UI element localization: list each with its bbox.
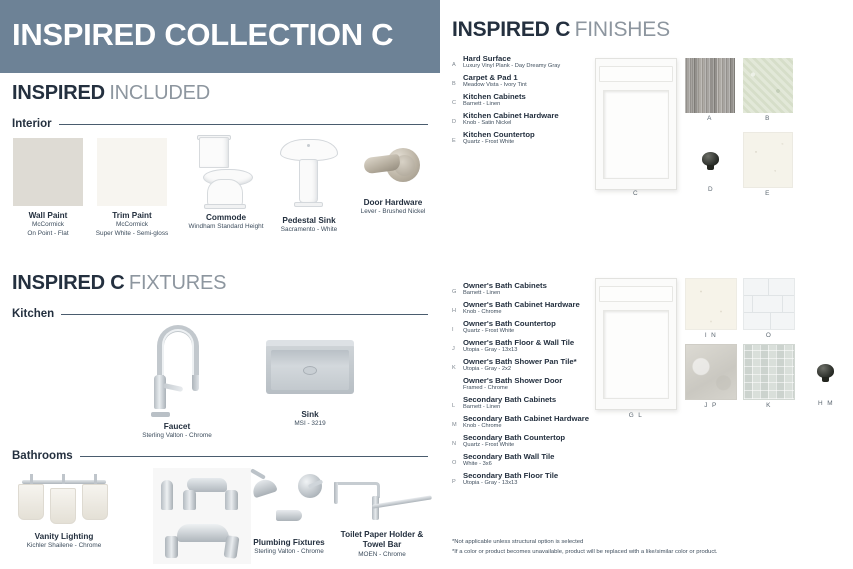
item-plumbing-fixtures: Plumbing Fixtures Sterling Valton - Chro… bbox=[243, 470, 335, 557]
swatch-label-jp: J P bbox=[685, 402, 737, 409]
swatch-carpet bbox=[743, 58, 793, 113]
interior-subheading: Interior bbox=[12, 118, 428, 130]
page-title: INSPIRED COLLECTION C bbox=[12, 17, 393, 53]
item-brand: McCormick bbox=[12, 221, 84, 229]
kitchen-sink-illustration bbox=[266, 340, 354, 402]
swatch-cabinet-door-kitchen bbox=[595, 58, 677, 190]
finish-name: Secondary Bath Countertop bbox=[463, 433, 632, 442]
vanity-light-illustration bbox=[14, 470, 114, 528]
swatch-knob-bath bbox=[817, 364, 834, 378]
swatch-label-a: A bbox=[685, 115, 735, 122]
finish-row: P Secondary Bath Floor Tile Utopia - Gra… bbox=[452, 470, 632, 489]
swatch-label-k: K bbox=[743, 402, 795, 409]
finish-key bbox=[452, 383, 463, 387]
item-name: Commode bbox=[178, 213, 274, 223]
finishes-heading: INSPIRED C FINISHES bbox=[452, 18, 670, 42]
swatch-label-b: B bbox=[743, 115, 793, 122]
pedestal-sink-illustration bbox=[278, 137, 340, 207]
item-spec: Kichler Shailene - Chrome bbox=[14, 542, 114, 550]
collection-sheet: INSPIRED COLLECTION C INSPIRED INCLUDED … bbox=[0, 0, 853, 569]
item-spec: On Point - Flat bbox=[12, 230, 84, 238]
kitchen-divider-rule bbox=[61, 314, 428, 315]
finish-key: C bbox=[452, 96, 463, 106]
item-brand: Windham Standard Height bbox=[178, 223, 274, 231]
swatch-quartz-bath bbox=[685, 278, 737, 330]
item-commode: Commode Windham Standard Height bbox=[178, 137, 274, 232]
item-spec: MOEN - Chrome bbox=[328, 551, 436, 559]
tub-faucet-illustration bbox=[153, 468, 251, 564]
swatch-floor-tile bbox=[685, 344, 737, 400]
item-tub-faucet-group bbox=[153, 468, 251, 564]
finish-key: M bbox=[452, 418, 463, 428]
swatch-mosaic-tile bbox=[743, 344, 795, 400]
right-column: INSPIRED C FINISHES A Hard Surface Luxur… bbox=[440, 0, 853, 569]
finish-key: K bbox=[452, 361, 463, 371]
finish-row: O Secondary Bath Wall Tile White - 3x6 bbox=[452, 451, 632, 470]
fixtures-heading: INSPIRED C FIXTURES bbox=[12, 272, 226, 295]
finish-row: N Secondary Bath Countertop Quartz - Fro… bbox=[452, 432, 632, 451]
footnotes: *Not applicable unless structural option… bbox=[452, 537, 848, 557]
item-name: Vanity Lighting bbox=[14, 532, 114, 542]
finish-desc: Quartz - Frost White bbox=[463, 442, 632, 449]
swatch-label-in: I N bbox=[685, 332, 737, 339]
trim-paint-swatch bbox=[97, 138, 167, 206]
item-pedestal-sink: Pedestal Sink Sacramento - White bbox=[266, 137, 352, 235]
bathrooms-subheading: Bathrooms bbox=[12, 450, 428, 462]
item-brand: Lever - Brushed Nickel bbox=[347, 208, 439, 216]
finish-name: Secondary Bath Floor Tile bbox=[463, 471, 632, 480]
towel-bar-illustration bbox=[330, 476, 434, 528]
finish-key: I bbox=[452, 323, 463, 333]
finish-key: E bbox=[452, 134, 463, 144]
item-name: Faucet bbox=[131, 422, 223, 432]
swatch-label-o: O bbox=[743, 332, 795, 339]
swatch-hard-surface bbox=[685, 58, 735, 113]
item-name: Wall Paint bbox=[12, 211, 84, 221]
kitchen-subheading: Kitchen bbox=[12, 308, 428, 320]
footnote-2: *If a color or product becomes unavailab… bbox=[452, 547, 848, 557]
finishes-heading-light: FINISHES bbox=[575, 18, 670, 41]
finishes-heading-strong: INSPIRED C bbox=[452, 18, 570, 41]
swatch-label-e: E bbox=[743, 190, 793, 197]
finish-desc: Utopia - Gray - 13x13 bbox=[463, 480, 632, 487]
swatch-knob-kitchen bbox=[702, 152, 719, 166]
finish-key: H bbox=[452, 304, 463, 314]
interior-subheading-label: Interior bbox=[12, 118, 59, 130]
item-name: Pedestal Sink bbox=[266, 216, 352, 226]
swatch-quartz-kitchen bbox=[743, 132, 793, 188]
swatch-label-gl: G L bbox=[595, 412, 677, 419]
item-wall-paint: Wall Paint McCormick On Point - Flat bbox=[12, 138, 84, 238]
kitchen-subheading-label: Kitchen bbox=[12, 308, 61, 320]
item-name: Toilet Paper Holder & Towel Bar bbox=[328, 530, 436, 551]
finish-desc: Knob - Chrome bbox=[463, 423, 632, 430]
item-name: Door Hardware bbox=[347, 198, 439, 208]
swatch-subway-tile bbox=[743, 278, 795, 330]
included-heading: INSPIRED INCLUDED bbox=[12, 82, 210, 105]
included-heading-strong: INSPIRED bbox=[12, 82, 105, 104]
finish-key: L bbox=[452, 399, 463, 409]
interior-divider-rule bbox=[59, 124, 428, 125]
door-lever-illustration bbox=[362, 142, 424, 192]
item-kitchen-sink: Sink MSI - 3219 bbox=[262, 340, 358, 429]
item-name: Plumbing Fixtures bbox=[243, 538, 335, 548]
finish-key: J bbox=[452, 342, 463, 352]
item-brand: Sacramento - White bbox=[266, 226, 352, 234]
finish-desc: White - 3x6 bbox=[463, 461, 632, 468]
finish-key: O bbox=[452, 456, 463, 466]
item-towel-bar: Toilet Paper Holder & Towel Bar MOEN - C… bbox=[328, 476, 436, 559]
footnote-1: *Not applicable unless structural option… bbox=[452, 537, 848, 547]
shower-fixtures-illustration bbox=[246, 470, 332, 536]
finish-key: P bbox=[452, 475, 463, 485]
item-vanity-lighting: Vanity Lighting Kichler Shailene - Chrom… bbox=[14, 470, 114, 551]
item-name: Sink bbox=[262, 410, 358, 420]
finish-key: B bbox=[452, 77, 463, 87]
finish-key: A bbox=[452, 58, 463, 68]
fixtures-heading-strong: INSPIRED C bbox=[12, 272, 124, 294]
commode-illustration bbox=[193, 137, 259, 207]
item-spec: Sterling Valton - Chrome bbox=[243, 548, 335, 556]
finish-key: D bbox=[452, 115, 463, 125]
item-name: Trim Paint bbox=[95, 211, 169, 221]
item-trim-paint: Trim Paint McCormick Super White - Semi-… bbox=[95, 138, 169, 238]
left-column: INSPIRED COLLECTION C INSPIRED INCLUDED … bbox=[0, 0, 440, 569]
finish-key: G bbox=[452, 285, 463, 295]
swatch-label-hm: H M bbox=[807, 400, 845, 407]
item-spec: Super White - Semi-gloss bbox=[95, 230, 169, 238]
item-spec: MSI - 3219 bbox=[262, 420, 358, 428]
swatch-label-c: C bbox=[595, 190, 677, 197]
item-door-hardware: Door Hardware Lever - Brushed Nickel bbox=[347, 142, 439, 217]
bathrooms-subheading-label: Bathrooms bbox=[12, 450, 80, 462]
finish-key: N bbox=[452, 437, 463, 447]
swatch-cabinet-door-bath bbox=[595, 278, 677, 410]
swatch-label-d: D bbox=[692, 186, 730, 193]
bathrooms-divider-rule bbox=[80, 456, 428, 457]
finish-name: Secondary Bath Wall Tile bbox=[463, 452, 632, 461]
hero-banner: INSPIRED COLLECTION C bbox=[0, 0, 440, 73]
fixtures-heading-light: FIXTURES bbox=[129, 272, 226, 294]
faucet-illustration bbox=[149, 325, 205, 417]
item-brand: McCormick bbox=[95, 221, 169, 229]
item-kitchen-faucet: Faucet Sterling Valton - Chrome bbox=[131, 325, 223, 441]
included-heading-light: INCLUDED bbox=[109, 82, 210, 104]
item-spec: Sterling Valton - Chrome bbox=[131, 432, 223, 440]
wall-paint-swatch bbox=[13, 138, 83, 206]
